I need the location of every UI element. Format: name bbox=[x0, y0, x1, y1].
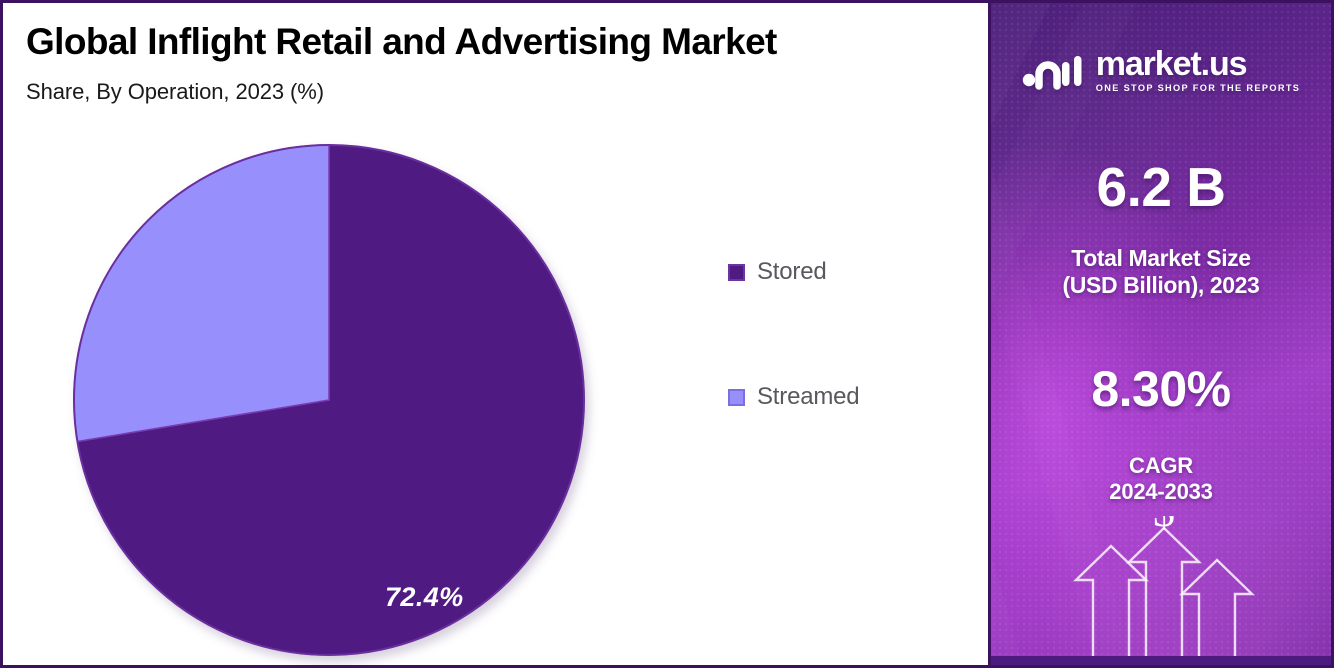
chart-legend: Stored Streamed bbox=[728, 258, 958, 411]
chart-panel: Global Inflight Retail and Advertising M… bbox=[0, 0, 991, 668]
cagr-caption: CAGR 2024-2033 bbox=[991, 453, 1331, 505]
cagr-caption-line2: 2024-2033 bbox=[991, 479, 1331, 505]
pie-slice-label-stored: 72.4% bbox=[385, 582, 464, 613]
logo-wordmark: market.us bbox=[1096, 47, 1247, 81]
growth-arrows-graphic: $ bbox=[991, 516, 1331, 656]
growth-arrows-svg: $ bbox=[991, 516, 1334, 656]
brand-logo[interactable]: market.us ONE STOP SHOP FOR THE REPORTS bbox=[991, 47, 1331, 93]
infographic-page: Global Inflight Retail and Advertising M… bbox=[0, 0, 1334, 668]
dollar-sign-icon: $ bbox=[1153, 516, 1175, 536]
brand-bottom-bar bbox=[991, 656, 1331, 665]
legend-swatch-stored bbox=[728, 264, 745, 281]
up-arrow-middle-icon bbox=[1129, 528, 1199, 656]
brand-panel: market.us ONE STOP SHOP FOR THE REPORTS … bbox=[991, 0, 1334, 668]
market-size-value: 6.2 B bbox=[991, 155, 1331, 219]
legend-label-streamed: Streamed bbox=[757, 383, 859, 411]
cagr-caption-line1: CAGR bbox=[991, 453, 1331, 479]
pie-slice-streamed[interactable] bbox=[74, 145, 329, 441]
pie-svg bbox=[73, 144, 585, 656]
logo-text-block: market.us ONE STOP SHOP FOR THE REPORTS bbox=[1096, 47, 1301, 93]
page-title: Global Inflight Retail and Advertising M… bbox=[26, 21, 777, 63]
legend-label-stored: Stored bbox=[757, 258, 827, 286]
market-size-caption-line2: (USD Billion), 2023 bbox=[991, 272, 1331, 299]
market-us-logo-icon bbox=[1022, 50, 1084, 90]
pie-chart: 72.4% bbox=[73, 144, 585, 656]
legend-item-streamed[interactable]: Streamed bbox=[728, 383, 958, 411]
legend-swatch-streamed bbox=[728, 389, 745, 406]
legend-item-stored[interactable]: Stored bbox=[728, 258, 958, 286]
market-size-caption: Total Market Size (USD Billion), 2023 bbox=[991, 245, 1331, 299]
logo-tagline: ONE STOP SHOP FOR THE REPORTS bbox=[1096, 84, 1301, 93]
chart-subtitle: Share, By Operation, 2023 (%) bbox=[26, 79, 324, 105]
up-arrow-right-icon bbox=[1182, 560, 1252, 656]
cagr-value: 8.30% bbox=[991, 360, 1331, 418]
market-size-caption-line1: Total Market Size bbox=[991, 245, 1331, 272]
